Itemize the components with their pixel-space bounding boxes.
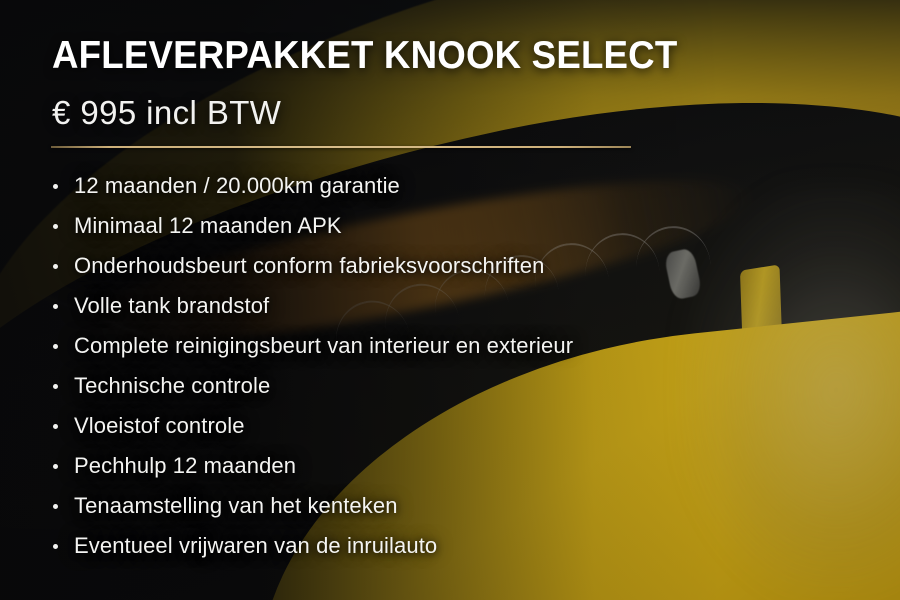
price-label: € 995 incl BTW: [52, 96, 281, 129]
bullet-icon: [53, 224, 58, 229]
bullet-icon: [53, 184, 58, 189]
feature-item: Tenaamstelling van het kenteken: [52, 486, 573, 526]
bullet-icon: [53, 504, 58, 509]
feature-item-label: Minimaal 12 maanden APK: [74, 213, 342, 238]
bullet-icon: [53, 544, 58, 549]
feature-item-label: Volle tank brandstof: [74, 293, 269, 318]
bullet-icon: [53, 344, 58, 349]
feature-item-label: 12 maanden / 20.000km garantie: [74, 173, 400, 198]
divider: [51, 146, 631, 148]
feature-item-label: Eventueel vrijwaren van de inruilauto: [74, 533, 437, 558]
feature-item-label: Onderhoudsbeurt conform fabrieksvoorschr…: [74, 253, 544, 278]
feature-item: 12 maanden / 20.000km garantie: [52, 166, 573, 206]
feature-item-label: Technische controle: [74, 373, 270, 398]
bullet-icon: [53, 424, 58, 429]
feature-item: Minimaal 12 maanden APK: [52, 206, 573, 246]
feature-item-label: Tenaamstelling van het kenteken: [74, 493, 398, 518]
feature-item: Complete reinigingsbeurt van interieur e…: [52, 326, 573, 366]
page-title: AFLEVERPAKKET KNOOK SELECT: [52, 36, 677, 75]
feature-list: 12 maanden / 20.000km garantieMinimaal 1…: [52, 166, 573, 566]
content-overlay: AFLEVERPAKKET KNOOK SELECT € 995 incl BT…: [0, 0, 900, 600]
feature-item: Eventueel vrijwaren van de inruilauto: [52, 526, 573, 566]
promo-banner: AFLEVERPAKKET KNOOK SELECT € 995 incl BT…: [0, 0, 900, 600]
feature-item-label: Vloeistof controle: [74, 413, 245, 438]
feature-item-label: Pechhulp 12 maanden: [74, 453, 296, 478]
feature-item: Volle tank brandstof: [52, 286, 573, 326]
feature-item: Pechhulp 12 maanden: [52, 446, 573, 486]
bullet-icon: [53, 464, 58, 469]
bullet-icon: [53, 264, 58, 269]
feature-item: Technische controle: [52, 366, 573, 406]
feature-item: Vloeistof controle: [52, 406, 573, 446]
feature-item: Onderhoudsbeurt conform fabrieksvoorschr…: [52, 246, 573, 286]
feature-item-label: Complete reinigingsbeurt van interieur e…: [74, 333, 573, 358]
bullet-icon: [53, 384, 58, 389]
bullet-icon: [53, 304, 58, 309]
